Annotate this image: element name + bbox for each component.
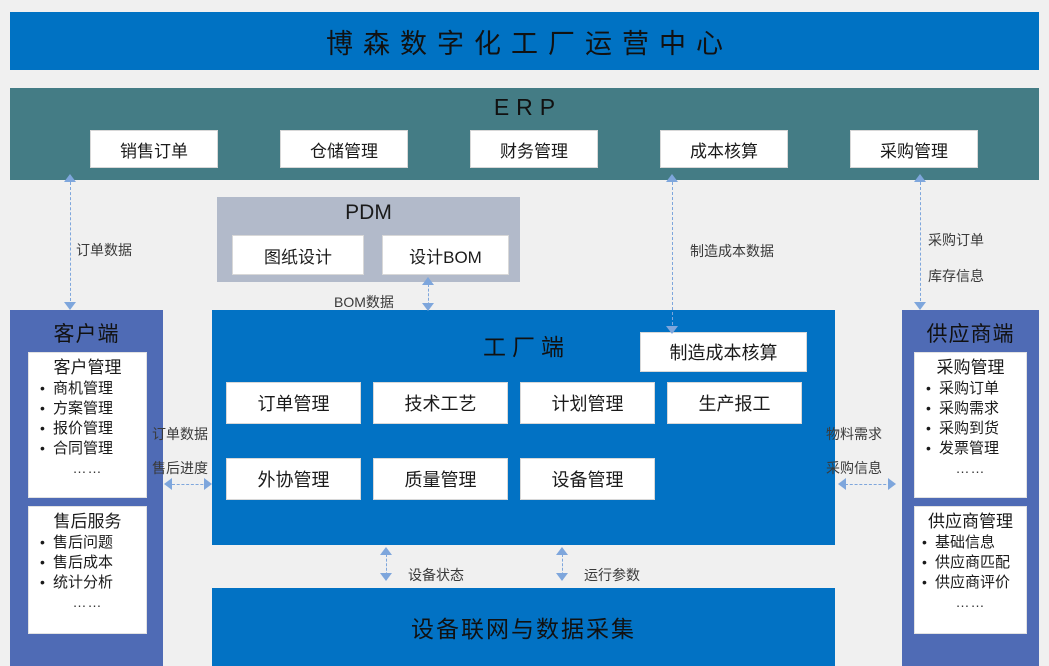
connector-arrow-right-factory-supplier [888,478,896,490]
connector-label-mfg-cost-data: 制造成本数据 [690,241,774,261]
erp-module-sales-order[interactable]: 销售订单 [90,130,218,168]
pdm-module-design-bom[interactable]: 设计BOM [382,235,509,275]
connector-arrow-up-order-data-top [64,174,76,182]
connector-line-mfg-cost-data [672,182,673,330]
factory-module-manufacturing-cost-accounting[interactable]: 制造成本核算 [640,332,807,372]
card-item-list: 基础信息 供应商匹配 供应商评价 [915,533,1026,593]
connector-arrow-up-bom-data [422,277,434,285]
connector-arrow-up-mfg-cost-data [666,174,678,182]
card-more-indicator: …… [915,460,1026,476]
list-item[interactable]: 发票管理 [925,439,1026,459]
connector-arrow-down-order-data-top [64,302,76,310]
connector-label-order-data-left: 订单数据 [152,424,208,444]
connector-line-purchase [920,182,921,306]
card-title: 客户管理 [29,357,146,378]
connector-line-client-factory [172,484,208,485]
connector-arrow-down-device-status [380,573,392,581]
list-item[interactable]: 报价管理 [39,419,146,439]
factory-module-equipment-management[interactable]: 设备管理 [520,458,655,500]
iot-section: 设备联网与数据采集 [212,588,835,666]
list-item[interactable]: 供应商匹配 [921,553,1026,573]
factory-section: 工厂端 制造成本核算 订单管理 技术工艺 计划管理 生产报工 外协管理 质量管理… [212,310,835,545]
list-item[interactable]: 售后问题 [39,533,146,553]
list-item[interactable]: 方案管理 [39,399,146,419]
erp-module-cost-accounting[interactable]: 成本核算 [660,130,788,168]
connector-arrow-up-purchase [914,174,926,182]
connector-label-order-data-top: 订单数据 [76,240,132,260]
connector-arrow-down-bom-data [422,303,434,311]
connector-label-inventory-info: 库存信息 [928,266,984,286]
list-item[interactable]: 合同管理 [39,439,146,459]
supplier-card-procurement-management[interactable]: 采购管理 采购订单 采购需求 采购到货 发票管理 …… [914,352,1027,498]
card-more-indicator: …… [915,594,1026,610]
card-title: 售后服务 [29,511,146,532]
card-item-list: 采购订单 采购需求 采购到货 发票管理 [915,379,1026,459]
factory-module-plan-management[interactable]: 计划管理 [520,382,655,424]
card-title: 供应商管理 [915,511,1026,532]
supplier-panel-title: 供应商端 [902,318,1039,348]
client-card-aftersales-service[interactable]: 售后服务 售后问题 售后成本 统计分析 …… [28,506,147,634]
connector-label-material-demand: 物料需求 [826,424,882,444]
list-item[interactable]: 售后成本 [39,553,146,573]
connector-arrow-up-device-status [380,547,392,555]
list-item[interactable]: 基础信息 [921,533,1026,553]
connector-arrow-left-client-factory [164,478,172,490]
client-panel: 客户端 客户管理 商机管理 方案管理 报价管理 合同管理 …… 售后服务 售后问… [10,310,163,666]
connector-arrow-right-client-factory [204,478,212,490]
factory-module-outsourcing-management[interactable]: 外协管理 [226,458,361,500]
erp-section-title: ERP [10,94,1039,121]
card-more-indicator: …… [29,460,146,476]
list-item[interactable]: 供应商评价 [921,573,1026,593]
pdm-section-title: PDM [217,201,520,225]
connector-label-purchase-info: 采购信息 [826,458,882,478]
connector-label-aftersales-progress: 售后进度 [152,458,208,478]
connector-label-purchase-order: 采购订单 [928,230,984,250]
list-item[interactable]: 采购订单 [925,379,1026,399]
connector-arrow-left-factory-supplier [838,478,846,490]
erp-module-procurement[interactable]: 采购管理 [850,130,978,168]
factory-module-quality-management[interactable]: 质量管理 [373,458,508,500]
list-item[interactable]: 统计分析 [39,573,146,593]
connector-arrow-down-mfg-cost-data [666,326,678,334]
card-title: 采购管理 [915,357,1026,378]
connector-line-order-data-top [70,182,71,306]
erp-section: ERP 销售订单 仓储管理 财务管理 成本核算 采购管理 [10,88,1039,180]
erp-module-finance[interactable]: 财务管理 [470,130,598,168]
list-item[interactable]: 采购需求 [925,399,1026,419]
connector-label-run-params: 运行参数 [584,565,640,585]
app-header: 博森数字化工厂运营中心 [10,12,1039,70]
connector-arrow-down-run-params [556,573,568,581]
page-title: 博森数字化工厂运营中心 [316,22,733,61]
list-item[interactable]: 采购到货 [925,419,1026,439]
supplier-card-supplier-management[interactable]: 供应商管理 基础信息 供应商匹配 供应商评价 …… [914,506,1027,634]
card-item-list: 商机管理 方案管理 报价管理 合同管理 [29,379,146,459]
iot-section-title: 设备联网与数据采集 [411,610,636,644]
erp-module-warehouse[interactable]: 仓储管理 [280,130,408,168]
factory-module-technical-process[interactable]: 技术工艺 [373,382,508,424]
connector-line-factory-supplier [845,484,891,485]
factory-module-order-management[interactable]: 订单管理 [226,382,361,424]
connector-arrow-up-run-params [556,547,568,555]
client-panel-title: 客户端 [10,318,163,348]
connector-label-device-status: 设备状态 [408,565,464,585]
card-item-list: 售后问题 售后成本 统计分析 [29,533,146,593]
list-item[interactable]: 商机管理 [39,379,146,399]
factory-module-production-reporting[interactable]: 生产报工 [667,382,802,424]
connector-arrow-down-purchase [914,302,926,310]
pdm-section: PDM 图纸设计 设计BOM [217,197,520,282]
client-card-customer-management[interactable]: 客户管理 商机管理 方案管理 报价管理 合同管理 …… [28,352,147,498]
card-more-indicator: …… [29,594,146,610]
connector-label-bom-data: BOM数据 [334,292,394,312]
pdm-module-drawing-design[interactable]: 图纸设计 [232,235,364,275]
supplier-panel: 供应商端 采购管理 采购订单 采购需求 采购到货 发票管理 …… 供应商管理 基… [902,310,1039,666]
